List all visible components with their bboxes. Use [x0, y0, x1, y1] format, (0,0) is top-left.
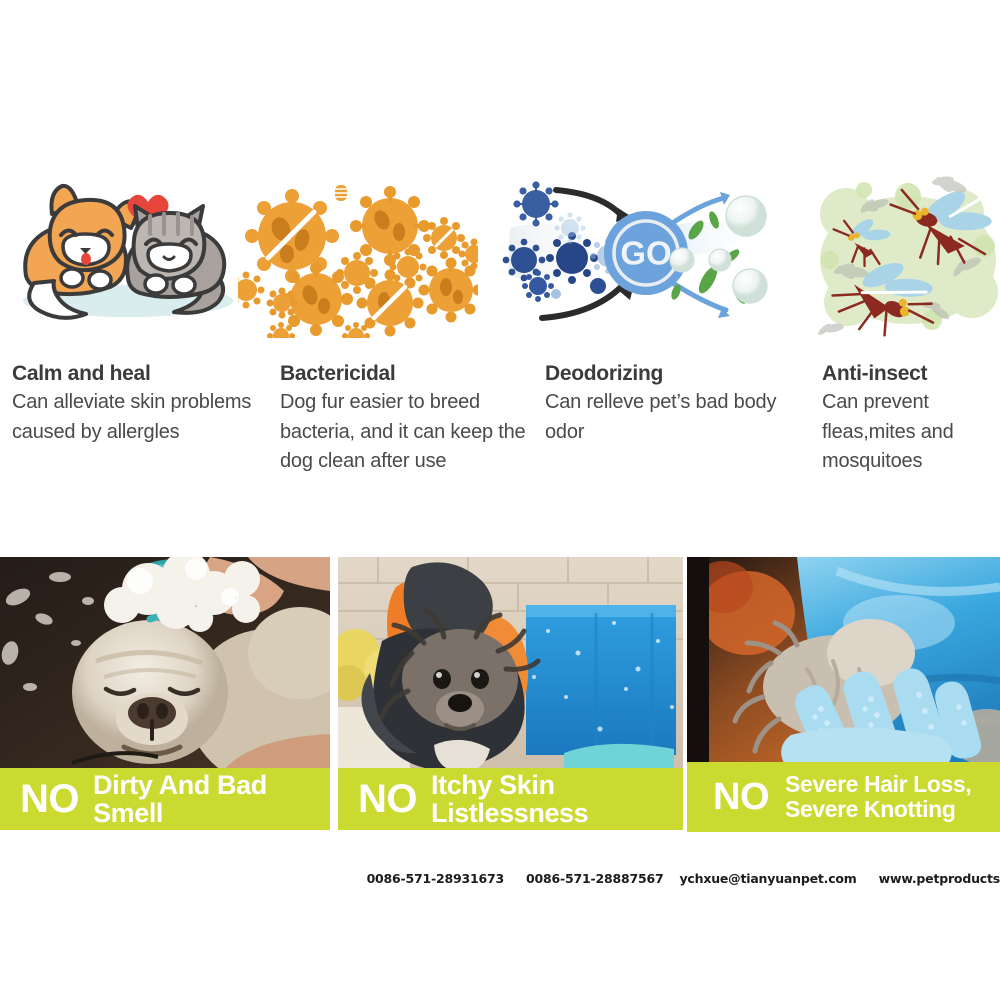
feature-title: Calm and heal [12, 360, 262, 388]
no-word: NO [358, 779, 417, 819]
infographic-page: GO [0, 0, 1000, 1000]
feature-description: Can relleve pet’s bad body odor [545, 388, 795, 447]
no-banner: NO Itchy Skin Listlessness [338, 768, 683, 830]
no-phrase-line-2: Severe Knotting [785, 796, 955, 822]
feature-text-row: Calm and heal Can alleviate skin problem… [0, 360, 1000, 540]
footer-email[interactable]: ychxue@tianyuanpet.com [679, 871, 856, 886]
feature-title: Anti-insect [822, 360, 1000, 388]
no-word: NO [713, 777, 769, 817]
photo-panel-row: NO Dirty And Bad Smell [0, 557, 1000, 832]
feature-text-deodorizing: Deodorizing Can relleve pet’s bad body o… [545, 360, 795, 447]
feature-title: Bactericidal [280, 360, 530, 388]
footer-website[interactable]: www.petproducts [879, 871, 1000, 886]
feature-title: Deodorizing [545, 360, 795, 388]
dog-groomed-with-glove-photo [687, 557, 1000, 765]
feature-description: Can alleviate skin problems caused by al… [12, 388, 262, 447]
sleeping-dog-and-cat-icon [8, 168, 248, 338]
mosquito-anti-insect-icon [812, 168, 1000, 338]
panel-severe-hair-loss: NO Severe Hair Loss, Severe Knotting [687, 557, 1000, 832]
no-banner: NO Severe Hair Loss, Severe Knotting [687, 762, 1000, 832]
footer-phone-1: 0086-571-28931673 [367, 871, 504, 886]
no-phrase: Severe Hair Loss, Severe Knotting [785, 772, 971, 822]
go-badge-label: GO [620, 235, 671, 272]
no-word: NO [20, 779, 79, 819]
bacteria-virus-icon [238, 168, 478, 338]
no-phrase: Itchy Skin Listlessness [431, 771, 683, 827]
feature-description: Dog fur easier to breed bacteria, and it… [280, 388, 530, 477]
deodorizing-go-icon: GO [500, 168, 782, 338]
no-banner: NO Dirty And Bad Smell [0, 768, 330, 830]
feature-text-calm-and-heal: Calm and heal Can alleviate skin problem… [12, 360, 262, 447]
wet-poodle-in-towel-photo [338, 557, 683, 772]
feature-icon-row: GO [0, 168, 1000, 338]
footer-contact-bar: 0086-571-28931673 0086-571-28887567 ychx… [0, 866, 1000, 890]
panel-dirty-and-bad-smell: NO Dirty And Bad Smell [0, 557, 330, 830]
no-phrase: Dirty And Bad Smell [93, 771, 330, 827]
panel-itchy-skin-listlessness: NO Itchy Skin Listlessness [338, 557, 683, 830]
feature-text-anti-insect: Anti-insect Can prevent fleas,mites and … [822, 360, 1000, 477]
no-phrase-line-1: Severe Hair Loss, [785, 771, 971, 797]
bulldog-being-washed-photo [0, 557, 330, 772]
feature-description: Can prevent fleas,mites and mosquitoes [822, 388, 1000, 477]
footer-phone-2: 0086-571-28887567 [526, 871, 663, 886]
feature-text-bactericidal: Bactericidal Dog fur easier to breed bac… [280, 360, 530, 477]
